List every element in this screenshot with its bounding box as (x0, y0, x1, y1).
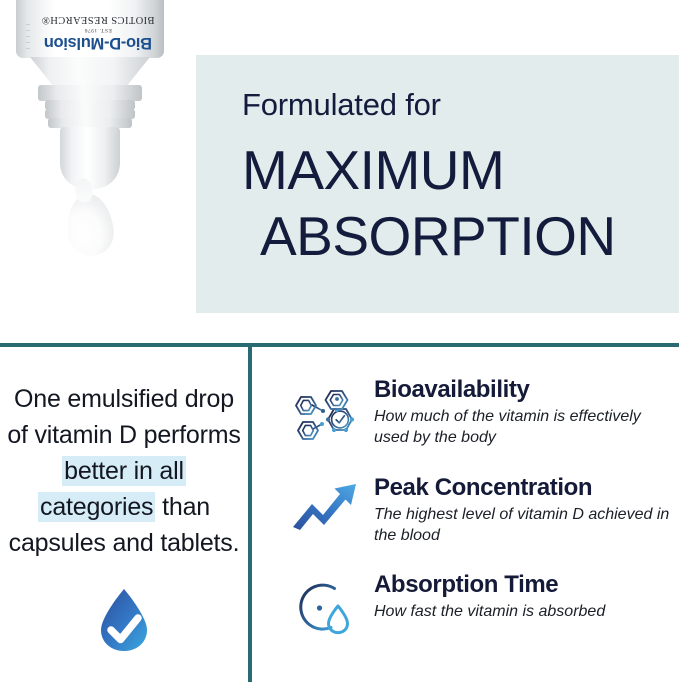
vitamin-d-dropper-bottle-image: — — — — — Bio-D-Mulsion EST. 1976 BIOTIC… (8, 0, 168, 306)
feature-item-absorption-time: Absorption Time How fast the vitamin is … (252, 570, 679, 640)
water-drop-check-icon (95, 587, 153, 653)
bottle-collar-ring (38, 85, 142, 101)
feature-description: The highest level of vitamin D achieved … (374, 504, 679, 546)
feature-text-wrapper: Peak Concentration The highest level of … (362, 473, 679, 546)
feature-icon-wrapper (288, 473, 362, 535)
feature-title: Absorption Time (374, 570, 605, 600)
feature-description: How much of the vitamin is effectively u… (374, 406, 679, 448)
falling-liquid-drop (64, 192, 116, 258)
bottle-body: — — — — — Bio-D-Mulsion EST. 1976 BIOTIC… (16, 0, 164, 58)
benefit-statement: One emulsified drop of vitamin D perform… (6, 381, 242, 561)
feature-description: How fast the vitamin is absorbed (374, 601, 605, 622)
hero-section: — — — — — Bio-D-Mulsion EST. 1976 BIOTIC… (0, 0, 679, 344)
molecule-check-icon (290, 379, 360, 449)
headline-panel: Formulated for MAXIMUM ABSORPTION (196, 55, 679, 313)
bottle-product-name: Bio-D-Mulsion (32, 33, 164, 53)
feature-icon-wrapper (288, 570, 362, 640)
dropper-tip (60, 127, 120, 189)
features-panel: Bioavailability How much of the vitamin … (252, 347, 679, 682)
feature-item-peak-concentration: Peak Concentration The highest level of … (252, 473, 679, 546)
bottle-shoulder (30, 57, 150, 87)
bottle-established-text: EST. 1976 (32, 26, 164, 33)
feature-text-wrapper: Absorption Time How fast the vitamin is … (362, 570, 605, 622)
feature-icon-wrapper (288, 375, 362, 449)
upward-trend-arrow-icon (290, 477, 360, 535)
feature-text-wrapper: Bioavailability How much of the vitamin … (362, 375, 679, 448)
feature-title: Peak Concentration (374, 473, 679, 503)
feature-item-bioavailability: Bioavailability How much of the vitamin … (252, 375, 679, 449)
headline-line-maximum: MAXIMUM (242, 137, 679, 203)
bottle-label: Bio-D-Mulsion EST. 1976 BIOTICS RESEARCH… (32, 0, 164, 54)
benefit-statement-panel: One emulsified drop of vitamin D perform… (0, 347, 248, 682)
headline-eyebrow: Formulated for (242, 85, 679, 125)
bottle-brand-name: BIOTICS RESEARCH® (32, 13, 164, 25)
headline-line-absorption: ABSORPTION (260, 203, 679, 269)
clock-droplet-icon (290, 574, 360, 640)
feature-title: Bioavailability (374, 375, 679, 405)
statement-text-lead: One emulsified drop of vitamin D perform… (7, 385, 240, 449)
water-drop-check-badge (0, 587, 248, 653)
